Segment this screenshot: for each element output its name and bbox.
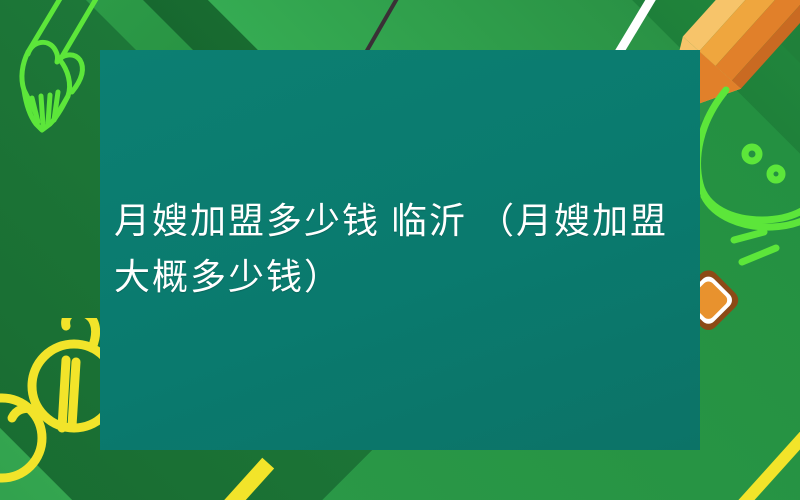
page-title: 月嫂加盟多少钱 临沂 （月嫂加盟大概多少钱） bbox=[114, 194, 686, 306]
banner: 月嫂加盟多少钱 临沂 （月嫂加盟大概多少钱） bbox=[0, 0, 800, 500]
content-panel: 月嫂加盟多少钱 临沂 （月嫂加盟大概多少钱） bbox=[100, 50, 700, 450]
